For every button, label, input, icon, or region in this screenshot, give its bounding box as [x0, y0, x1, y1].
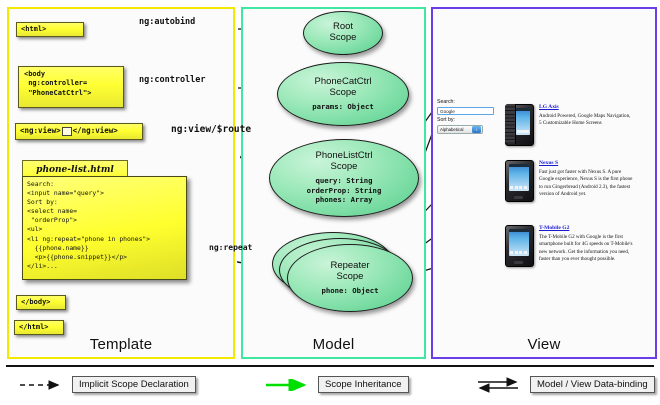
phone-name-link[interactable]: T-Mobile G2	[539, 225, 634, 231]
green-arrow-icon	[264, 379, 312, 391]
phone-list-note: phone-list.html Search: <input name="que…	[22, 160, 187, 288]
phone-list-item: LG Axis Android Powered, Google Maps Nav…	[505, 104, 634, 144]
code-ng-view: <ng:view></ng:view>	[15, 123, 143, 140]
legend-label-scope-inheritance: Scope Inheritance	[318, 376, 409, 393]
phone-name-link[interactable]: LG Axis	[539, 104, 634, 110]
ng-view-slot-icon	[62, 127, 72, 136]
legend-label-data-binding: Model / View Data-binding	[530, 376, 655, 393]
legend-label-implicit-scope: Implicit Scope Declaration	[72, 376, 196, 393]
legend-item-scope-inheritance: Scope Inheritance	[264, 376, 409, 393]
dashed-arrow-icon	[18, 379, 66, 391]
scope-repeater-props: phone: Object	[321, 286, 378, 295]
code-html-open: <html>	[16, 22, 84, 37]
chevron-updown-icon: ↕	[472, 126, 481, 133]
phone-image-lg-axis	[505, 104, 532, 144]
scope-root-title-2: Scope	[330, 33, 357, 44]
scope-repeater-title-2: Scope	[337, 272, 364, 283]
view-search-form: Search: Google Sort by: Alphabetical ↕	[437, 99, 497, 134]
scope-phonecatctrl: PhoneCatCtrl Scope params: Object	[277, 62, 409, 126]
phone-description: Fast just got faster with Nexus S. A pur…	[539, 169, 634, 199]
search-label: Search:	[437, 99, 497, 106]
phone-image-nexus-s	[505, 160, 532, 200]
search-input[interactable]: Google	[437, 107, 494, 115]
code-html-close: </html>	[14, 320, 64, 335]
panel-label-model: Model	[243, 336, 424, 353]
panel-label-view: View	[433, 336, 655, 353]
double-arrow-icon	[476, 377, 524, 393]
edge-label-ng-controller: ng:controller	[139, 75, 206, 85]
phone-description: The T-Mobile G2 with Google is the first…	[539, 234, 634, 264]
edge-label-ng-repeat: ng:repeat	[209, 243, 252, 252]
diagram-canvas: Template <html> <body ng:controller= "Ph…	[0, 0, 660, 405]
legend-divider	[6, 365, 654, 367]
edge-label-ng-autobind: ng:autobind	[139, 17, 195, 27]
phone-list-note-code: Search: <input name="query"> Sort by: <s…	[22, 176, 187, 280]
sort-label: Sort by:	[437, 117, 497, 124]
code-body-close: </body>	[16, 295, 66, 310]
edge-label-ng-view-route: ng:view/$route	[171, 124, 251, 135]
phone-list-item: T-Mobile G2 The T-Mobile G2 with Google …	[505, 225, 634, 265]
legend-item-data-binding: Model / View Data-binding	[476, 376, 655, 393]
phone-name-link[interactable]: Nexus S	[539, 160, 634, 166]
scope-repeater: Repeater Scope phone: Object	[287, 244, 413, 312]
panel-label-template: Template	[9, 336, 233, 353]
code-body-open: <body ng:controller= "PhoneCatCtrl">	[18, 66, 124, 108]
scope-phonecatctrl-props: params: Object	[312, 102, 374, 111]
scope-phonelistctrl-title-2: Scope	[331, 162, 358, 173]
phone-list-item: Nexus S Fast just got faster with Nexus …	[505, 160, 634, 200]
sort-select[interactable]: Alphabetical ↕	[437, 125, 483, 134]
scope-root: Root Scope	[303, 11, 383, 55]
phone-description: Android Powered, Google Maps Navigation,…	[539, 113, 634, 128]
phone-image-t-mobile-g2	[505, 225, 532, 265]
scope-phonelistctrl: PhoneListCtrl Scope query: String orderP…	[269, 139, 419, 217]
legend-item-implicit-scope: Implicit Scope Declaration	[18, 376, 196, 393]
sort-select-value: Alphabetical	[440, 127, 463, 132]
scope-phonecatctrl-title-2: Scope	[330, 88, 357, 99]
ng-view-close-tag: </ng:view>	[73, 126, 118, 136]
ng-view-open-tag: <ng:view>	[20, 126, 61, 136]
legend: Implicit Scope Declaration Scope Inherit…	[6, 372, 654, 400]
scope-phonelistctrl-props: query: String orderProp: String phones: …	[307, 176, 382, 204]
